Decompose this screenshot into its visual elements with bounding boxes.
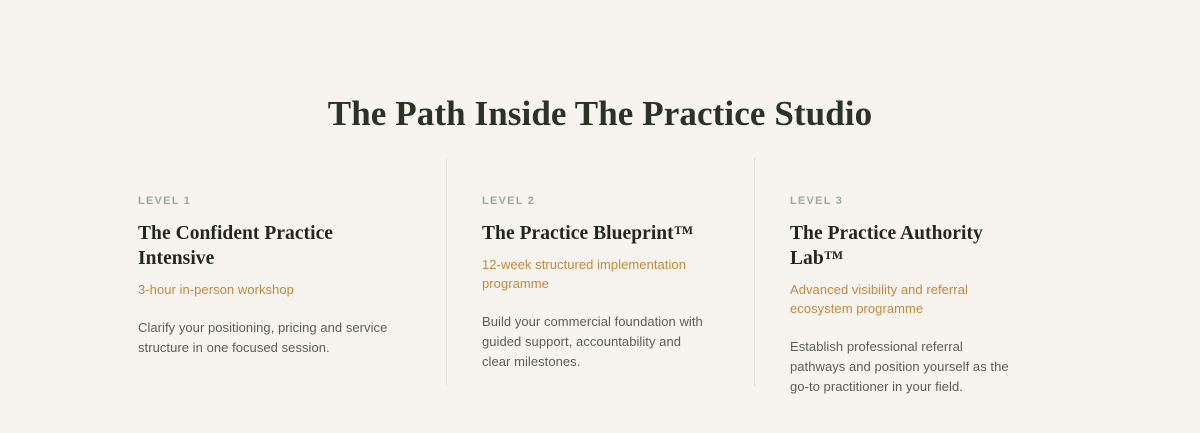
level-body-2: Build your commercial foundation with gu…	[482, 293, 710, 372]
level-body-3: Establish professional referral pathways…	[790, 318, 1018, 397]
level-subtitle-3: Advanced visibility and referral ecosyst…	[790, 271, 1018, 318]
page-root: The Path Inside The Practice Studio LEVE…	[0, 0, 1200, 433]
level-heading-3: The Practice Authority Lab™	[790, 208, 1018, 271]
level-card-1: LEVEL 1 The Confident Practice Intensive…	[138, 158, 446, 386]
level-body-1: Clarify your positioning, pricing and se…	[138, 299, 402, 358]
level-subtitle-2: 12-week structured implementation progra…	[482, 246, 710, 293]
level-heading-2: The Practice Blueprint™	[482, 208, 710, 246]
levels-grid: LEVEL 1 The Confident Practice Intensive…	[138, 158, 1062, 386]
level-tag-2: LEVEL 2	[482, 158, 710, 208]
level-tag-3: LEVEL 3	[790, 158, 1018, 208]
level-tag-1: LEVEL 1	[138, 158, 402, 208]
level-subtitle-1: 3-hour in-person workshop	[138, 271, 402, 299]
level-card-2: LEVEL 2 The Practice Blueprint™ 12-week …	[446, 158, 754, 386]
page-title: The Path Inside The Practice Studio	[0, 93, 1200, 135]
level-card-3: LEVEL 3 The Practice Authority Lab™ Adva…	[754, 158, 1062, 386]
level-heading-1: The Confident Practice Intensive	[138, 208, 402, 271]
